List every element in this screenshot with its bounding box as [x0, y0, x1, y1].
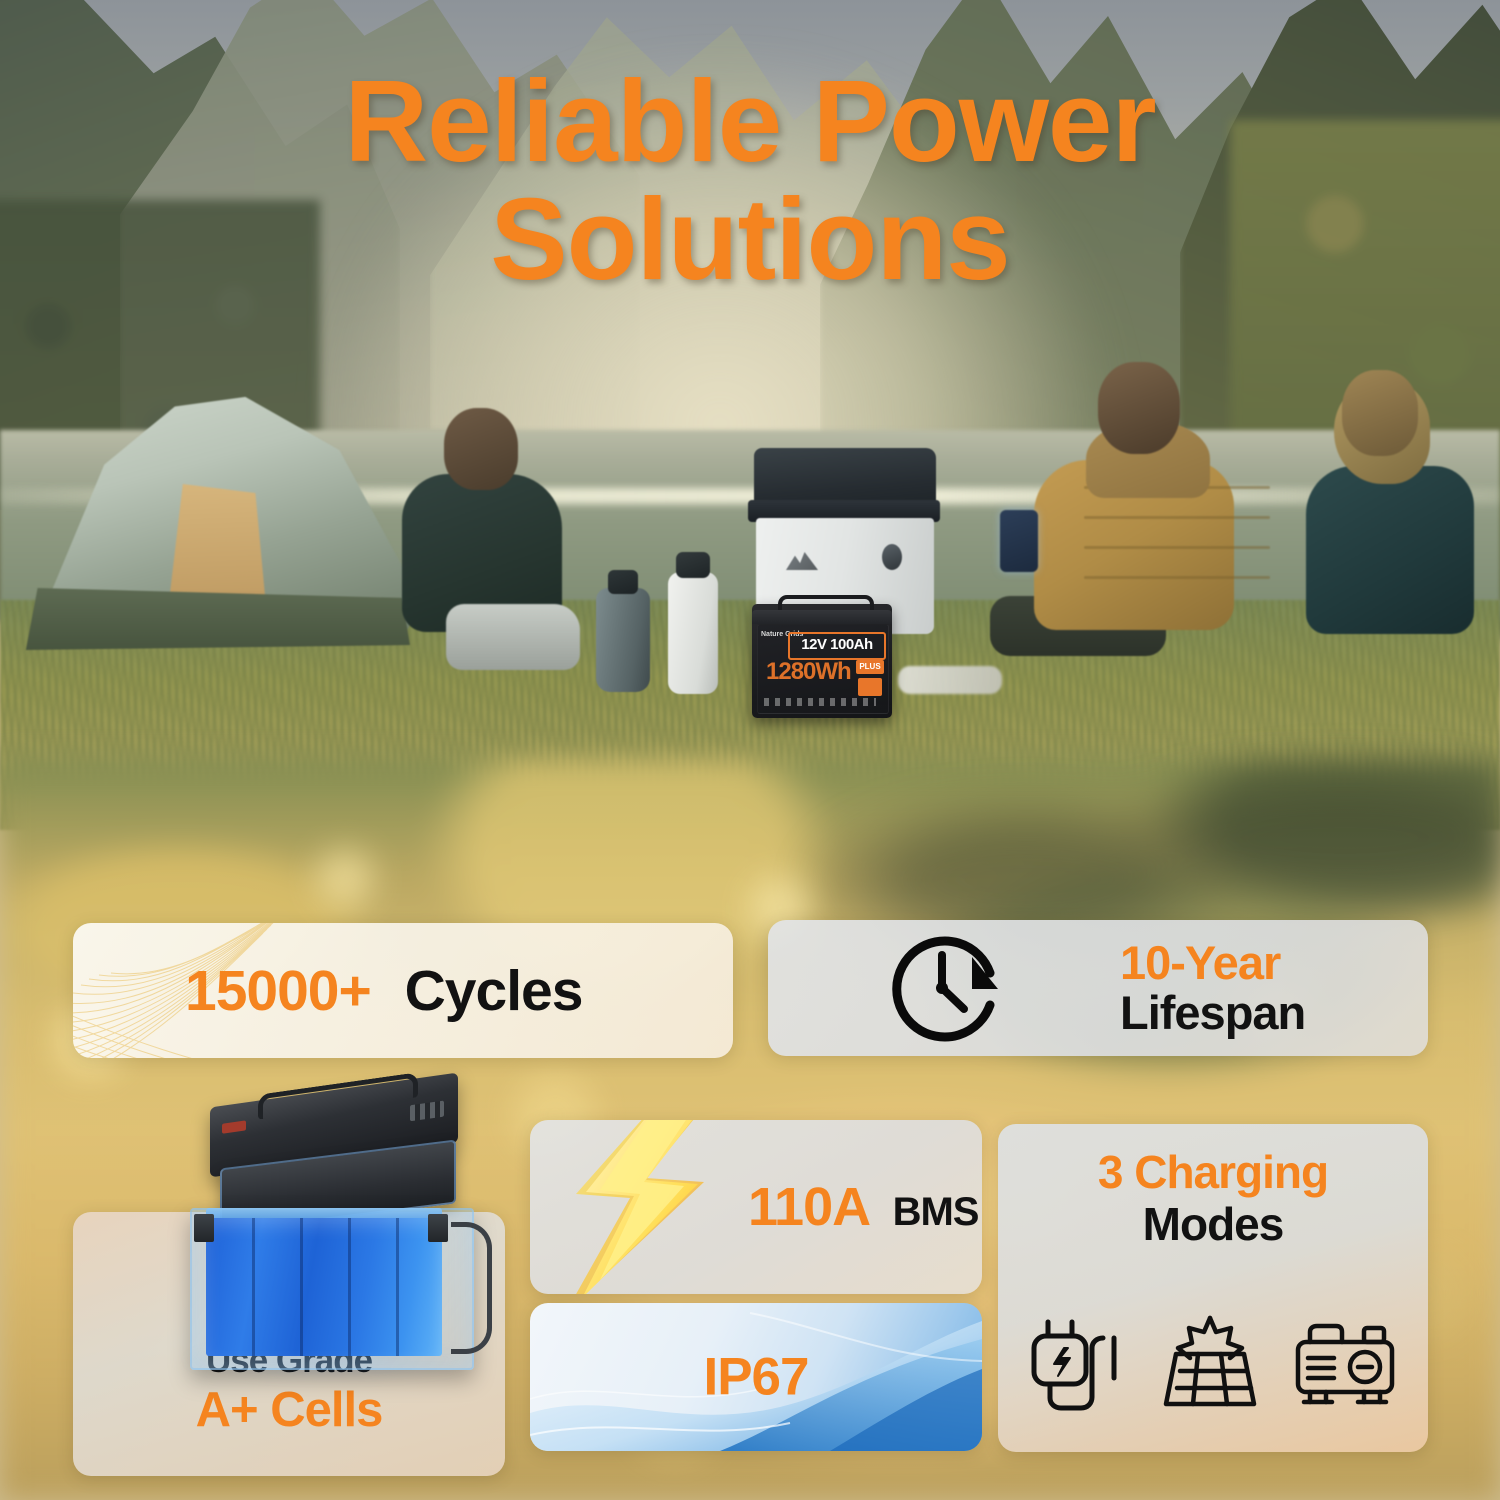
- fridge-knob: [882, 544, 902, 570]
- cycles-card: 15000+ Cycles: [73, 923, 733, 1058]
- lifespan-label: Lifespan: [1120, 988, 1305, 1038]
- clock-arrow-icon: [886, 929, 1018, 1047]
- exploded-battery-cells-image: [168, 1090, 498, 1370]
- battery-plus-text: PLUS: [856, 660, 884, 674]
- woman-jacket: [1306, 466, 1474, 634]
- battery-clamp-left: [194, 1214, 214, 1242]
- headline-line-1: Reliable Power: [0, 62, 1500, 180]
- lifespan-value: 10-Year: [1120, 938, 1305, 988]
- woman-head: [1342, 370, 1418, 456]
- battery-terminal: [222, 1120, 246, 1133]
- bms-card: 110A BMS: [530, 1120, 982, 1294]
- tent-base: [18, 588, 410, 650]
- battery-spec-box: 12V 100Ah: [788, 632, 886, 660]
- cycles-label-group: 15000+ Cycles: [185, 958, 582, 1024]
- generator-icon: [1290, 1314, 1400, 1412]
- battery-plus-badge: PLUS: [856, 660, 884, 674]
- battery-prismatic-cells: [206, 1218, 442, 1356]
- lifespan-card: 10-Year Lifespan: [768, 920, 1428, 1056]
- man-head: [1098, 362, 1180, 454]
- marketing-banner: Nature Grids 12V 100Ah 1280Wh PLUS Relia…: [0, 0, 1500, 1500]
- bottle-cap-white: [676, 552, 710, 578]
- bms-value: 110A: [748, 1177, 870, 1237]
- water-bottle-white: [668, 572, 718, 694]
- battery-badge-box: [858, 678, 882, 696]
- man-with-phone: [990, 362, 1240, 662]
- shoes: [898, 666, 1002, 694]
- ip67-card: IP67: [530, 1303, 982, 1451]
- woman-seated: [1290, 370, 1480, 660]
- ip67-value: IP67: [530, 1347, 982, 1408]
- lifespan-text-group: 10-Year Lifespan: [1120, 938, 1305, 1038]
- camper-head: [444, 408, 518, 490]
- smartphone: [1000, 510, 1038, 572]
- bms-label: BMS: [893, 1190, 979, 1234]
- modes-label: Modes: [998, 1198, 1428, 1250]
- camper-legs: [446, 604, 580, 670]
- bms-text-group: 110A BMS: [748, 1176, 978, 1238]
- battery-spec-text: 12V 100Ah: [790, 634, 884, 656]
- modes-value: 3 Charging: [998, 1146, 1428, 1198]
- tent: [18, 392, 410, 670]
- cycles-value: 15000+: [185, 959, 371, 1023]
- cycles-label: Cycles: [405, 959, 583, 1023]
- charging-modes-card: 3 Charging Modes: [998, 1124, 1428, 1452]
- battery-top: [752, 610, 892, 624]
- lightning-bolt-icon: [548, 1120, 738, 1294]
- ac-plug-icon: [1026, 1314, 1130, 1412]
- modes-icon-row: [998, 1314, 1428, 1412]
- battery-strap: [451, 1222, 492, 1354]
- headline-line-2: Solutions: [0, 180, 1500, 298]
- camper-at-tent: [392, 408, 580, 676]
- battery-vent: [410, 1101, 444, 1122]
- cells-value: A+ Cells: [73, 1382, 505, 1438]
- battery-energy-text: 1280Wh: [766, 658, 851, 686]
- page-title: Reliable Power Solutions: [0, 62, 1500, 299]
- solar-panel-icon: [1158, 1314, 1262, 1412]
- bottle-cap-dark: [608, 570, 638, 594]
- water-bottle-dark: [596, 588, 650, 692]
- battery-clamp-right: [428, 1214, 448, 1242]
